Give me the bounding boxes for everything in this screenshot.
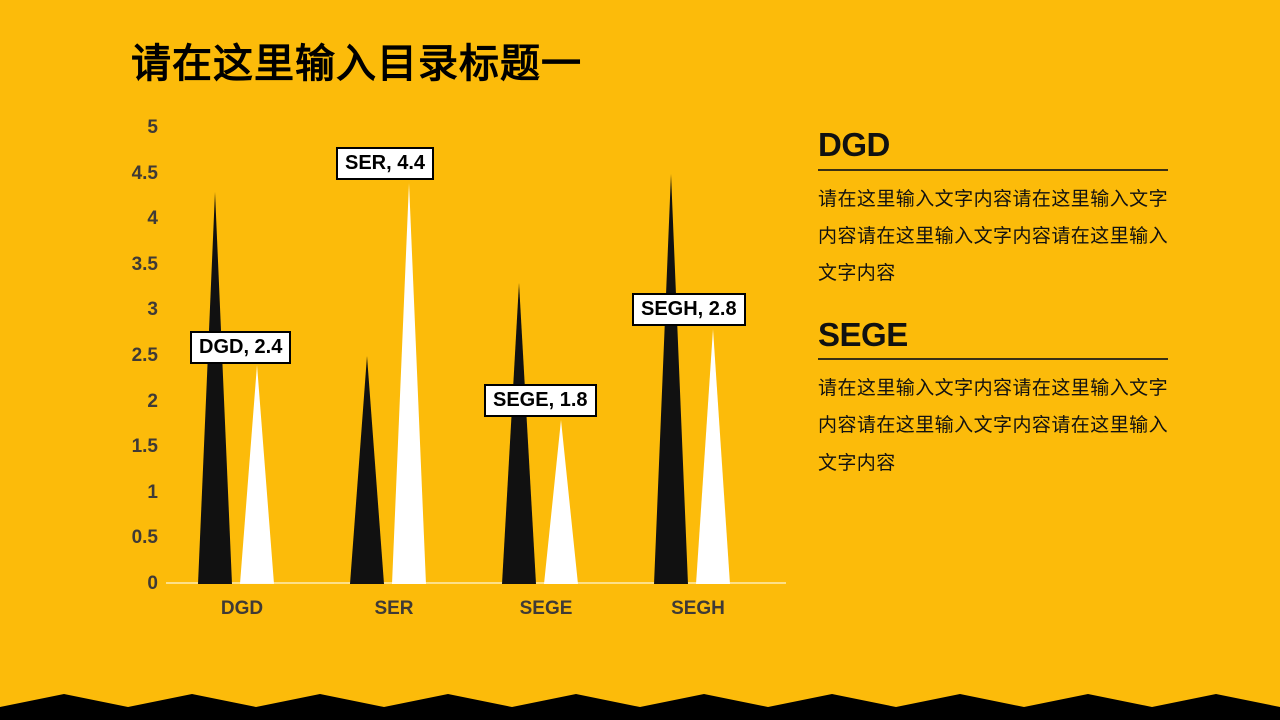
y-axis-tick: 1.5 [132, 436, 158, 458]
chart-group-sege [470, 128, 622, 584]
chart-y-axis: 00.511.522.533.544.55 [96, 128, 158, 584]
y-axis-tick: 3.5 [132, 254, 158, 276]
bar-ser-series1[interactable] [350, 356, 384, 584]
y-axis-tick: 2.5 [132, 345, 158, 367]
y-axis-tick: 0.5 [132, 527, 158, 549]
page-title: 请在这里输入目录标题一 [131, 44, 582, 84]
pyramid-bar-chart: 00.511.522.533.544.55 DGD, 2.4SER, 4.4SE… [96, 128, 776, 638]
bar-segh-series1[interactable] [654, 174, 688, 584]
section-body-dgd: 请在这里输入文字内容请在这里输入文字内容请在这里输入文字内容请在这里输入文字内容 [818, 181, 1168, 292]
chart-group-segh [622, 128, 774, 584]
bar-sege-series1[interactable] [502, 283, 536, 584]
section-body-sege: 请在这里输入文字内容请在这里输入文字内容请在这里输入文字内容请在这里输入文字内容 [818, 370, 1168, 481]
y-axis-tick: 2 [147, 391, 158, 413]
zigzag-decoration [0, 680, 1280, 720]
section-heading-dgd: DGD [818, 128, 1168, 163]
bar-dgd-series2[interactable] [240, 365, 274, 584]
slide-canvas: 请在这里输入目录标题一 00.511.522.533.544.55 DGD, 2… [0, 0, 1280, 720]
data-label-sege: SEGE, 1.8 [484, 384, 597, 417]
data-label-ser: SER, 4.4 [336, 147, 434, 180]
y-axis-tick: 1 [147, 482, 158, 504]
chart-group-ser [318, 128, 470, 584]
x-axis-label-sege: SEGE [470, 598, 622, 620]
y-axis-tick: 4 [147, 208, 158, 230]
bar-segh-series2[interactable] [696, 329, 730, 584]
content-panel: DGD请在这里输入文字内容请在这里输入文字内容请在这里输入文字内容请在这里输入文… [818, 128, 1168, 508]
chart-x-axis: DGDSERSEGESEGH [166, 598, 776, 628]
section-heading-sege: SEGE [818, 318, 1168, 353]
section-divider [818, 358, 1168, 360]
x-axis-label-segh: SEGH [622, 598, 774, 620]
bar-sege-series2[interactable] [544, 420, 578, 584]
x-axis-label-ser: SER [318, 598, 470, 620]
bar-ser-series2[interactable] [392, 183, 426, 584]
data-label-dgd: DGD, 2.4 [190, 331, 291, 364]
y-axis-tick: 0 [147, 573, 158, 595]
y-axis-tick: 3 [147, 299, 158, 321]
bar-dgd-series1[interactable] [198, 192, 232, 584]
x-axis-label-dgd: DGD [166, 598, 318, 620]
y-axis-tick: 5 [147, 117, 158, 139]
y-axis-tick: 4.5 [132, 163, 158, 185]
section-divider [818, 169, 1168, 171]
data-label-segh: SEGH, 2.8 [632, 293, 746, 326]
chart-plot-area: DGD, 2.4SER, 4.4SEGE, 1.8SEGH, 2.8 [166, 128, 776, 584]
